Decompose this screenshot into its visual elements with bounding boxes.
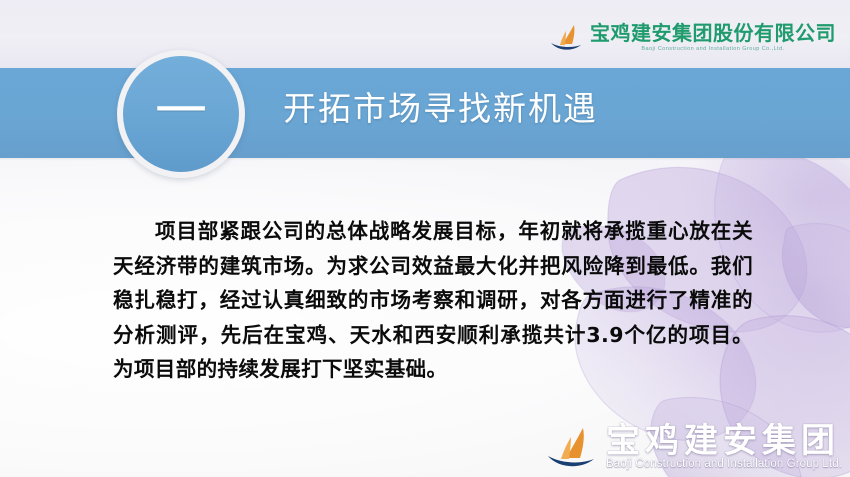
footer-company-logo: 宝鸡建安集团 Baoji Construction and Installati… bbox=[546, 424, 842, 471]
slide-title: 开拓市场寻找新机遇 bbox=[283, 88, 598, 129]
section-number-badge: 一 bbox=[117, 50, 245, 178]
header-company-name-cn: 宝鸡建安集团股份有限公司 bbox=[590, 24, 836, 45]
sail-boat-logo-icon bbox=[550, 24, 584, 52]
presentation-slide: 一 开拓市场寻找新机遇 宝鸡建安集团股份有限公司 Baoji Construct… bbox=[0, 0, 850, 477]
header-logo-wordmark: 宝鸡建安集团股份有限公司 Baoji Construction and Inst… bbox=[590, 24, 836, 52]
section-number-label: 一 bbox=[155, 86, 207, 138]
footer-company-name-en: Baoji Construction and Installation Grou… bbox=[606, 458, 842, 471]
sail-boat-logo-icon bbox=[546, 426, 598, 470]
header-company-name-en: Baoji Construction and Installation Grou… bbox=[590, 46, 836, 52]
header-company-logo: 宝鸡建安集团股份有限公司 Baoji Construction and Inst… bbox=[550, 24, 836, 52]
footer-company-name-cn: 宝鸡建安集团 bbox=[606, 424, 842, 459]
slide-body-paragraph: 项目部紧跟公司的总体战略发展目标，年初就将承揽重心放在关天经济带的建筑市场。为求… bbox=[113, 214, 753, 387]
footer-logo-wordmark: 宝鸡建安集团 Baoji Construction and Installati… bbox=[606, 424, 842, 471]
